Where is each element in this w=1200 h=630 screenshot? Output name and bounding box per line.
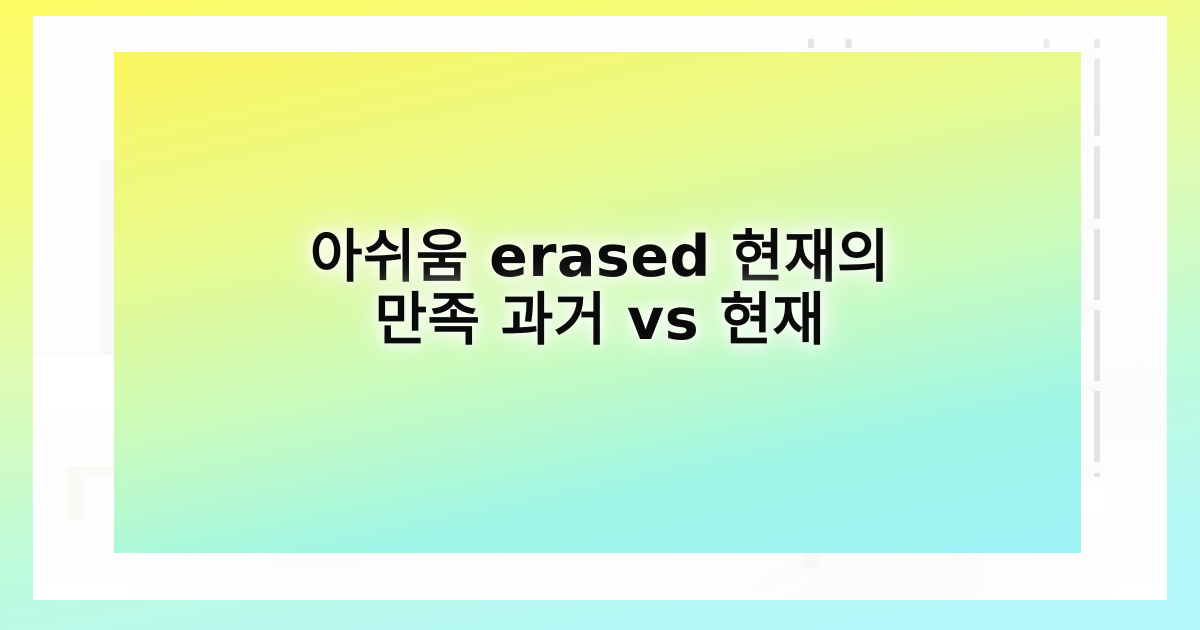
- tv-thumbnail-1: [209, 224, 357, 295]
- shelf-lantern: [856, 320, 900, 368]
- picture-frame: [944, 77, 1052, 142]
- tv-ui-side-label: [140, 278, 185, 287]
- tv-thumbnail-3: [515, 219, 637, 290]
- reed-diffuser-sticks: [859, 66, 900, 114]
- shelf-board-5: [808, 381, 1100, 392]
- reed-diffuser-pot: [865, 112, 887, 136]
- apple-logo-icon: [799, 545, 824, 569]
- television: [99, 147, 767, 382]
- shelf-mug: [859, 267, 884, 289]
- shelving-unit: [798, 39, 1116, 477]
- card-inner-plate: 아쉬움 erased 현재의 만족 과거 vs 현재: [33, 16, 1167, 600]
- white-bowl: [470, 498, 600, 559]
- tv-screen: [112, 156, 753, 370]
- shelf-bowls: [964, 271, 1015, 291]
- small-plant-pot: [871, 201, 896, 219]
- console-leg-left: [67, 469, 85, 522]
- tv-thumbnail-2: [375, 221, 497, 292]
- tv-ui-avatar-icon: [145, 183, 180, 202]
- shelf-board-top: [808, 48, 1100, 59]
- background-photo: [33, 16, 1167, 600]
- thumbnail-card: 아쉬움 erased 현재의 만족 과거 vs 현재: [0, 0, 1200, 630]
- white-lamp: [973, 188, 1021, 219]
- shelf-tray: [925, 276, 947, 292]
- shelf-post-right: [1094, 39, 1100, 477]
- succulent-pot: [248, 515, 378, 568]
- shelf-post-left: [808, 39, 814, 477]
- tv-thumbnail-4: [655, 217, 752, 287]
- small-plant-leaves: [868, 171, 903, 204]
- soundbar: [339, 401, 659, 428]
- shelf-candle-pot: [925, 350, 966, 381]
- woven-basket: [868, 396, 1020, 453]
